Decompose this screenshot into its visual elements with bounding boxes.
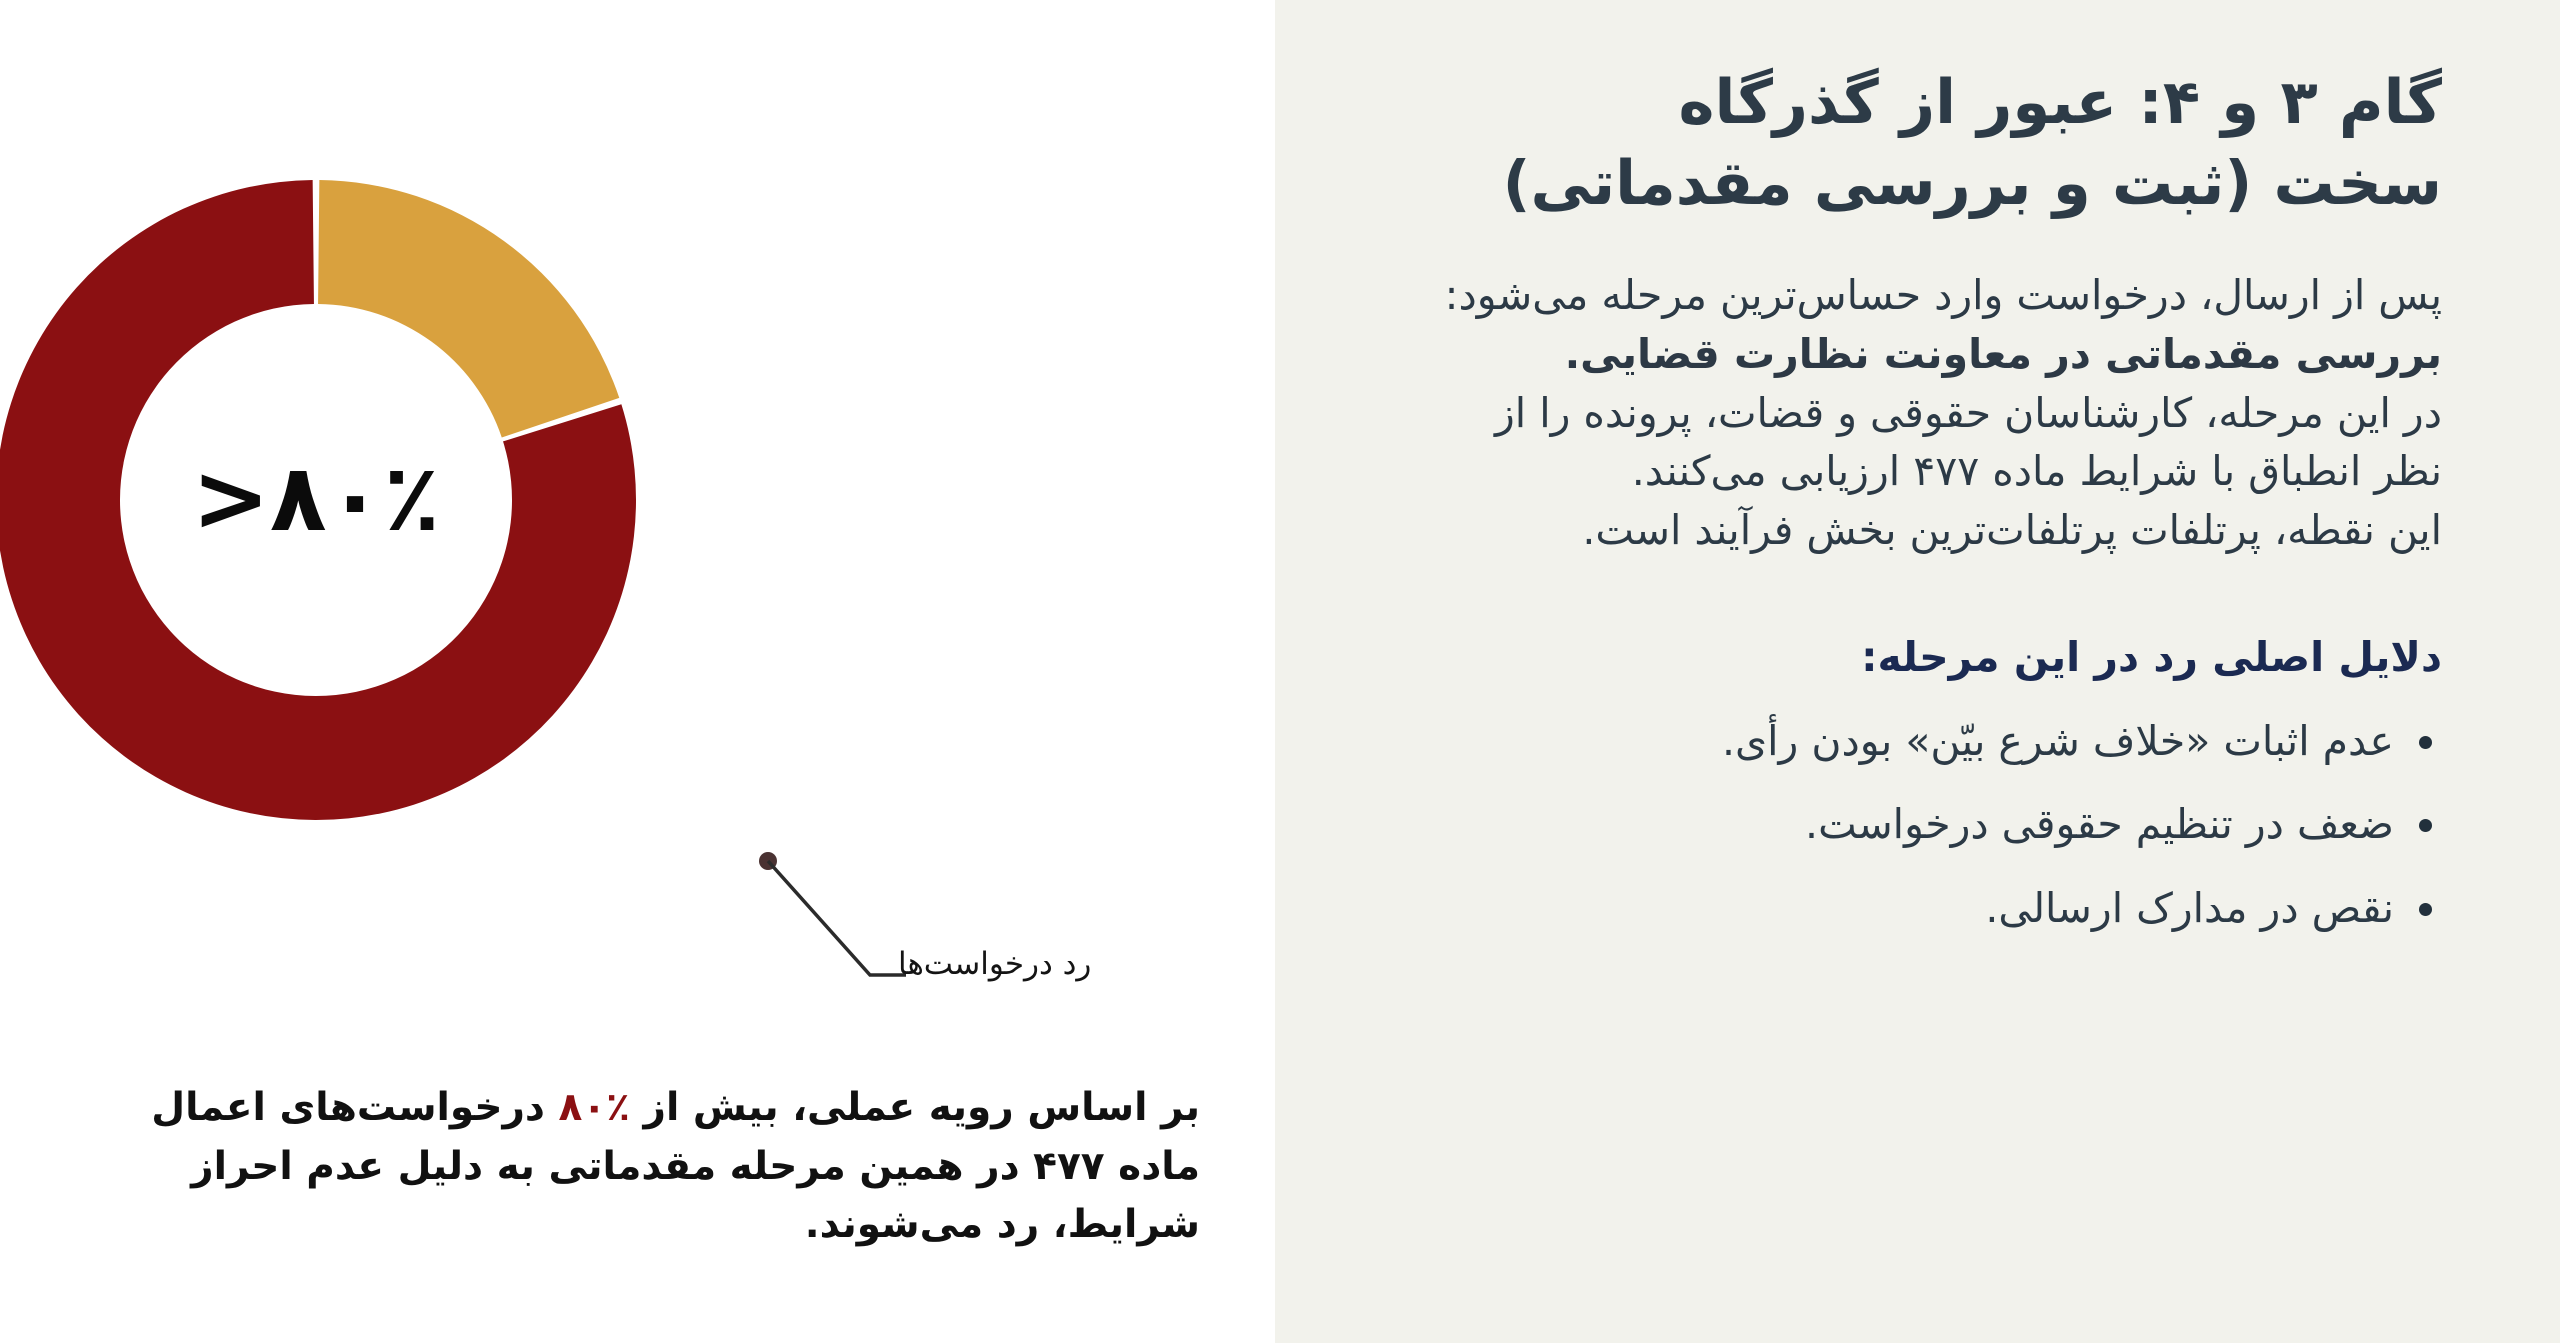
bullet-dot-icon <box>2419 903 2432 916</box>
page-title: گام ۳ و ۴: عبور از گذرگاه سخت (ثبت و برر… <box>1393 62 2442 224</box>
chart-panel: >۸۰٪ رد درخواست‌ها بر اساس رویه عملی، بی… <box>0 0 1275 1343</box>
reasons-list: عدم اثبات «خلاف شرع بیّن» بودن رأی. ضعف … <box>1393 713 2442 937</box>
body-line-2: بررسی مقدماتی در معاونت نظارت قضایی. <box>1393 325 2442 384</box>
donut-chart-svg <box>0 180 636 820</box>
bullet-dot-icon <box>2419 819 2432 832</box>
list-item-label: نقص در مدارک ارسالی. <box>1985 884 2394 932</box>
body-line-3: در این مرحله، کارشناسان حقوقی و قضات، پر… <box>1393 384 2442 443</box>
left-content-inner: گام ۳ و ۴: عبور از گذرگاه سخت (ثبت و برر… <box>1393 62 2442 964</box>
body-line-1: پس از ارسال، درخواست وارد حساس‌ترین مرحل… <box>1393 266 2442 325</box>
chart-caption: بر اساس رویه عملی، بیش از ٪۸۰ درخواست‌ها… <box>75 1079 1200 1255</box>
slide-root: گام ۳ و ۴: عبور از گذرگاه سخت (ثبت و برر… <box>0 0 2560 1343</box>
callout-leader-line <box>768 861 906 975</box>
body-line-4: نظر انطباق با شرایط ماده ۴۷۷ ارزیابی می‌… <box>1393 442 2442 501</box>
donut-slice <box>318 180 619 437</box>
donut-slice-group <box>0 180 636 820</box>
bullet-dot-icon <box>2419 736 2432 749</box>
callout-anchor-dot <box>759 852 777 870</box>
list-item-label: ضعف در تنظیم حقوقی درخواست. <box>1805 800 2394 848</box>
caption-highlight-value: ٪۸۰ <box>559 1085 630 1130</box>
body-paragraph-block: پس از ارسال، درخواست وارد حساس‌ترین مرحل… <box>1393 266 2442 559</box>
left-content-panel: گام ۳ و ۴: عبور از گذرگاه سخت (ثبت و برر… <box>1275 0 2560 1343</box>
page-title-line-2: سخت (ثبت و بررسی مقدماتی) <box>1393 143 2442 224</box>
page-title-line-1: گام ۳ و ۴: عبور از گذرگاه <box>1393 62 2442 143</box>
list-item-label: عدم اثبات «خلاف شرع بیّن» بودن رأی. <box>1722 717 2394 765</box>
list-item: عدم اثبات «خلاف شرع بیّن» بودن رأی. <box>1393 713 2442 770</box>
body-line-5: این نقطه، پرتلفات پرتلفات‌ترین بخش فرآین… <box>1393 501 2442 560</box>
reasons-heading: دلایل اصلی رد در این مرحله: <box>1393 629 2442 686</box>
list-item: ضعف در تنظیم حقوقی درخواست. <box>1393 796 2442 853</box>
donut-chart: >۸۰٪ <box>0 180 636 820</box>
list-item: نقص در مدارک ارسالی. <box>1393 880 2442 937</box>
caption-text-before: بر اساس رویه عملی، بیش از <box>630 1085 1200 1130</box>
callout-label: رد درخواست‌ها <box>898 946 1091 983</box>
